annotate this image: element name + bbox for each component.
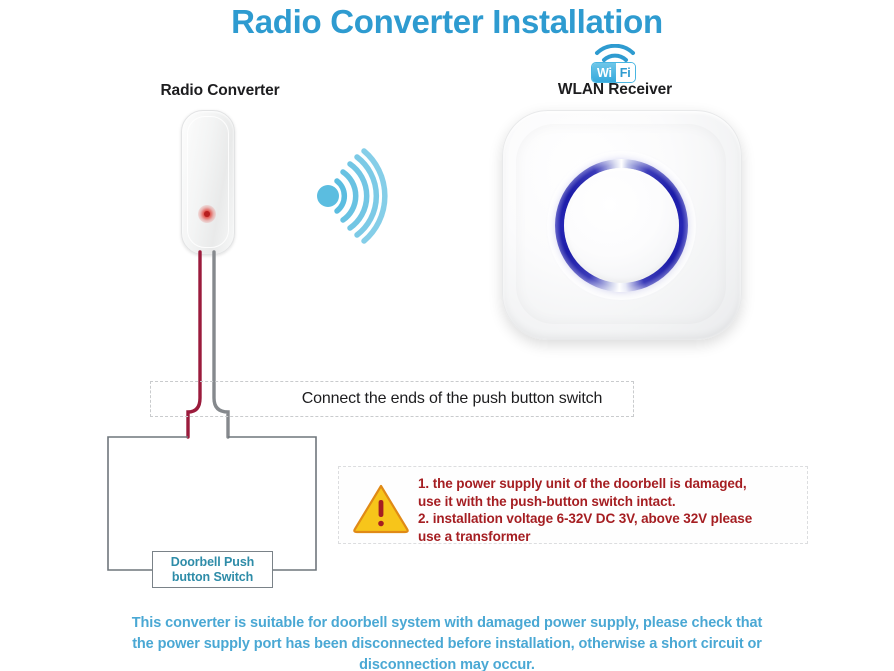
footer-line-3: disconnection may occur. (359, 657, 535, 671)
wifi-badge-wi: Wi (592, 63, 616, 82)
doorbell-push-button-switch-label: Doorbell Push button Switch (171, 555, 254, 585)
radio-converter-label: Radio Converter (130, 82, 310, 100)
doorbell-push-button-switch-box: Doorbell Push button Switch (152, 551, 273, 588)
radio-converter-device (181, 110, 235, 255)
wifi-badge-fi: Fi (616, 63, 636, 82)
footer-note: This converter is suitable for doorbell … (97, 613, 797, 671)
footer-line-2: the power supply port has been disconnec… (132, 636, 762, 652)
warning-text: 1. the power supply unit of the doorbell… (418, 475, 798, 545)
wiring-diagram (0, 0, 894, 671)
footer-line-1: This converter is suitable for doorbell … (132, 615, 762, 631)
wifi-badge: Wi Fi (591, 62, 636, 83)
glowing-blue-ring-icon (555, 159, 688, 292)
warning-line-1: 1. the power supply unit of the doorbell… (418, 476, 747, 491)
warning-triangle-icon (352, 482, 410, 534)
warning-line-3: 2. installation voltage 6-32V DC 3V, abo… (418, 511, 752, 526)
wlan-receiver-device (502, 110, 742, 340)
switch-label-line-1: Doorbell Push (171, 555, 254, 569)
red-led-indicator-icon (198, 205, 216, 223)
warning-line-2: use it with the push-button switch intac… (418, 494, 676, 509)
installation-diagram: Radio Converter Installation Radio Conve… (0, 0, 894, 671)
warning-line-4: use a transformer (418, 529, 530, 544)
wlan-receiver-label: WLAN Receiver (520, 81, 710, 99)
connect-ends-text: Connect the ends of the push button swit… (276, 388, 628, 410)
radio-signal-waves-icon (312, 148, 408, 244)
switch-label-line-2: button Switch (172, 570, 253, 584)
page-title: Radio Converter Installation (0, 0, 894, 42)
